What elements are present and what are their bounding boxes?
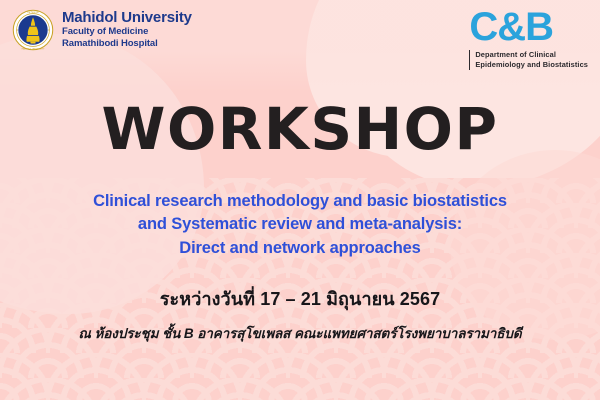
- subject-line-2: and Systematic review and meta-analysis:: [10, 213, 590, 236]
- ceb-department-tagline: Department of Clinical Epidemiology and …: [469, 50, 588, 70]
- subject-line-3: Direct and network approaches: [10, 237, 590, 260]
- workshop-venue-line: ณ ห้องประชุม ชั้น B อาคารสุโขเพลส คณะแพท…: [0, 322, 600, 344]
- mahidol-seal-icon: มหาวิทยาลัย MAHIDOL UNIVERSITY: [12, 9, 54, 51]
- workshop-subject-block: Clinical research methodology and basic …: [0, 190, 600, 260]
- mahidol-hospital-name: Ramathibodi Hospital: [62, 39, 192, 49]
- poster-content: WORKSHOP Clinical research methodology a…: [0, 86, 600, 344]
- workshop-poster: มหาวิทยาลัย MAHIDOL UNIVERSITY Mahidol U…: [0, 0, 600, 400]
- mahidol-faculty-name: Faculty of Medicine: [62, 27, 192, 37]
- subject-line-1: Clinical research methodology and basic …: [10, 190, 590, 213]
- ceb-department-lockup: C&B Department of Clinical Epidemiology …: [469, 8, 588, 70]
- workshop-title: WORKSHOP: [0, 86, 600, 158]
- workshop-date-line: ระหว่างวันที่ 17 – 21 มิถุนายน 2567: [0, 284, 600, 313]
- mahidol-text-block: Mahidol University Faculty of Medicine R…: [62, 9, 192, 49]
- poster-header: มหาวิทยาลัย MAHIDOL UNIVERSITY Mahidol U…: [0, 0, 600, 80]
- ceb-logo-mark: C&B: [469, 8, 588, 46]
- mahidol-university-lockup: มหาวิทยาลัย MAHIDOL UNIVERSITY Mahidol U…: [12, 9, 192, 51]
- mahidol-university-name: Mahidol University: [62, 10, 192, 26]
